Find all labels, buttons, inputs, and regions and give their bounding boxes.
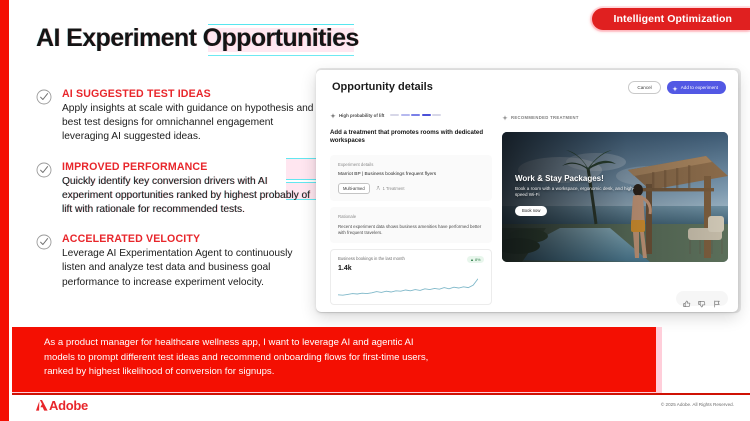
add-to-experiment-button[interactable]: Add to experiment: [667, 81, 726, 94]
recommended-treatment-label: RECOMMENDED TREATMENT: [511, 115, 579, 120]
rationale-card: Rationale Recent experiment data shows b…: [330, 207, 492, 244]
metric-value: 1.4k: [338, 265, 484, 272]
benefits-list: AI SUGGESTED TEST IDEAS Apply insights a…: [36, 88, 316, 290]
metric-delta-badge: ▲ 8%: [467, 256, 484, 262]
check-circle-icon: [36, 89, 52, 105]
list-item-body: Quickly identify key conversion drivers …: [62, 175, 316, 218]
opportunity-left-column: High probability of lift Add a treatment…: [330, 104, 492, 312]
treatment-copy: Work & Stay Packages! Book a room with a…: [515, 174, 635, 217]
list-item: AI SUGGESTED TEST IDEAS Apply insights a…: [36, 88, 316, 145]
status-badge: Intelligent Optimization: [592, 8, 750, 30]
metric-card: Business bookings in the last month ▲ 8%…: [330, 249, 492, 304]
left-accent-bar-inner: [9, 0, 12, 421]
treatment-title: Work & Stay Packages!: [515, 174, 635, 183]
panel-header: Opportunity details Cancel Add to experi…: [316, 70, 738, 104]
rationale-text: Recent experiment data shows business am…: [338, 224, 484, 237]
book-now-button[interactable]: Book now: [515, 206, 547, 216]
recommended-treatment-column: RECOMMENDED TREATMENT: [502, 104, 728, 312]
copyright-text: © 2025 Adobe. All Rights Reserved.: [661, 402, 734, 407]
probability-meter: [390, 114, 441, 116]
experiment-details-label: Experiment details: [338, 162, 484, 167]
list-item-body: Apply insights at scale with guidance on…: [62, 102, 316, 145]
treatment-preview-card[interactable]: Work & Stay Packages! Book a room with a…: [502, 132, 728, 262]
treatment-count-label: 1 Treatment: [383, 186, 405, 191]
sparkle-icon: [330, 106, 336, 124]
list-item-heading: IMPROVED PERFORMANCE: [62, 161, 316, 173]
metric-header: Business bookings in the last month ▲ 8%: [338, 256, 484, 262]
sparkle-icon: [502, 108, 508, 126]
list-item: IMPROVED PERFORMANCE Quickly identify ke…: [36, 161, 316, 218]
left-accent-bar: [0, 0, 9, 421]
thumbs-up-icon[interactable]: [683, 295, 691, 303]
sparkline-path: [338, 279, 478, 295]
sparkline-chart: [338, 274, 478, 300]
check-circle-icon: [36, 162, 52, 178]
rationale-label: Rationale: [338, 214, 484, 219]
panel-title: Opportunity details: [332, 81, 628, 93]
experiment-chip-row: Multi-armed 1 Treatment: [338, 183, 484, 193]
list-item-heading: AI SUGGESTED TEST IDEAS: [62, 88, 316, 100]
adobe-logo: Adobe: [36, 398, 88, 413]
metric-delta-value: 8%: [475, 258, 481, 262]
thumbs-down-icon[interactable]: [698, 295, 706, 303]
add-to-experiment-label: Add to experiment: [681, 85, 718, 90]
treatment-subtitle: Book a room with a workspace, ergonomic …: [515, 186, 635, 199]
metric-label: Business bookings in the last month: [338, 256, 405, 261]
slide-root: Intelligent Optimization AI Experiment O…: [0, 0, 750, 421]
probability-label: High probability of lift: [339, 113, 384, 118]
adobe-logo-text: Adobe: [49, 398, 88, 413]
sparkle-icon: [672, 84, 678, 90]
check-circle-icon: [36, 234, 52, 250]
prompt-banner-text: As a product manager for healthcare well…: [44, 336, 444, 380]
experiment-details-value: Marriot BP | Business bookings frequent …: [338, 172, 484, 177]
probability-row: High probability of lift: [330, 106, 492, 124]
list-item-body: Leverage AI Experimentation Agent to con…: [62, 247, 316, 290]
opportunity-details-panel: Opportunity details Cancel Add to experi…: [316, 70, 738, 312]
treatment-count: 1 Treatment: [376, 186, 405, 192]
cancel-button[interactable]: Cancel: [628, 81, 660, 94]
panel-body: High probability of lift Add a treatment…: [316, 104, 738, 312]
list-item: ACCELERATED VELOCITY Leverage AI Experim…: [36, 233, 316, 290]
experiment-details-card: Experiment details Marriot BP | Business…: [330, 155, 492, 200]
opportunity-headline: Add a treatment that promotes rooms with…: [330, 129, 492, 145]
recommended-treatment-header: RECOMMENDED TREATMENT: [502, 108, 728, 126]
page-title: AI Experiment Opportunities: [36, 24, 359, 53]
flag-icon[interactable]: [713, 295, 721, 303]
page-title-wrap: AI Experiment Opportunities: [36, 24, 359, 53]
flask-icon: [376, 186, 381, 192]
list-item-heading: ACCELERATED VELOCITY: [62, 233, 316, 245]
allocation-chip[interactable]: Multi-armed: [338, 183, 370, 193]
feedback-toolbar: [676, 291, 728, 306]
footer-divider: [0, 393, 750, 395]
